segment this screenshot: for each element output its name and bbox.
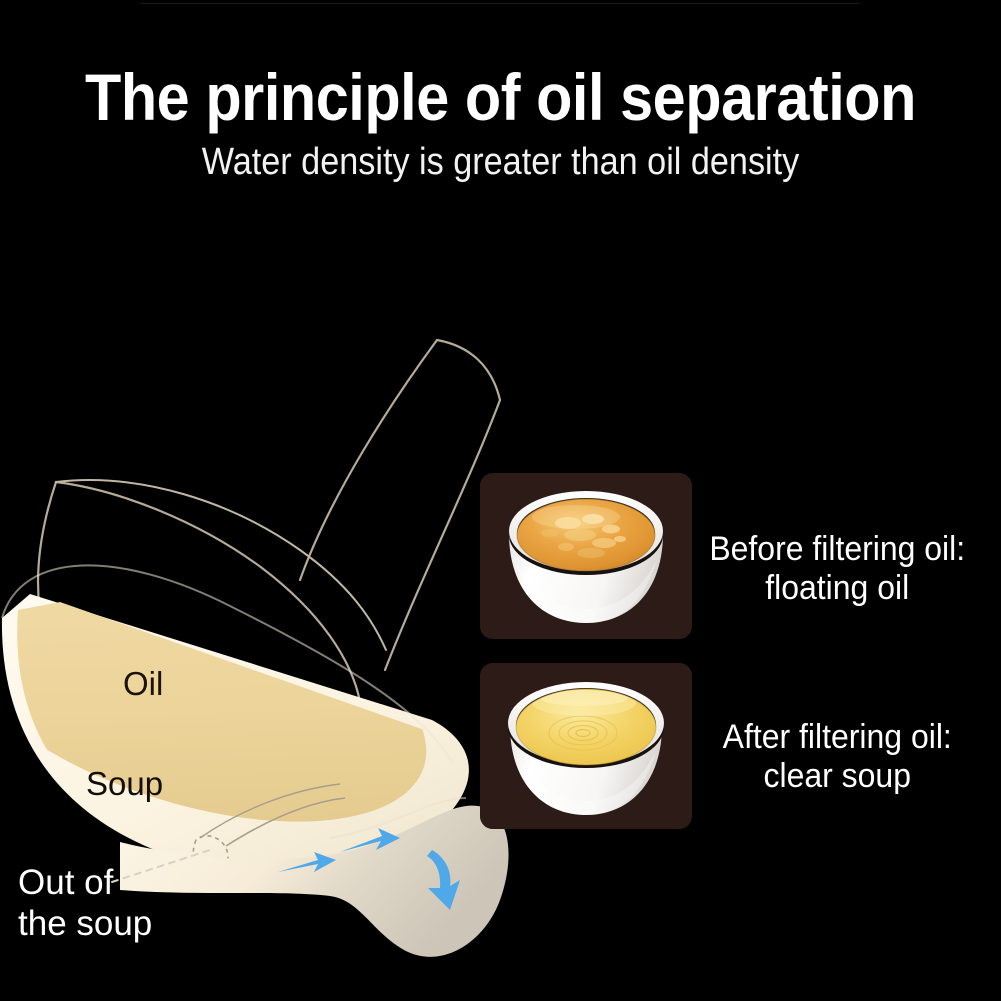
top-hairline [140,3,860,4]
callout-after-filtering: After filtering oil: clear soup [700,718,974,796]
callout-before-filtering: Before filtering oil: floating oil [700,530,974,608]
bowl-clear-soup-image [480,663,692,829]
thumbnail-before-filtering[interactable] [480,473,692,639]
thumbnail-after-filtering[interactable] [480,663,692,829]
page-subtitle: Water density is greater than oil densit… [50,143,951,181]
infographic-page: The principle of oil separation Water de… [0,0,1001,1001]
page-title: The principle of oil separation [50,64,951,130]
bowl-floating-oil-image [480,473,692,639]
ladle-handle [300,340,500,670]
ladle-cup [0,506,469,875]
